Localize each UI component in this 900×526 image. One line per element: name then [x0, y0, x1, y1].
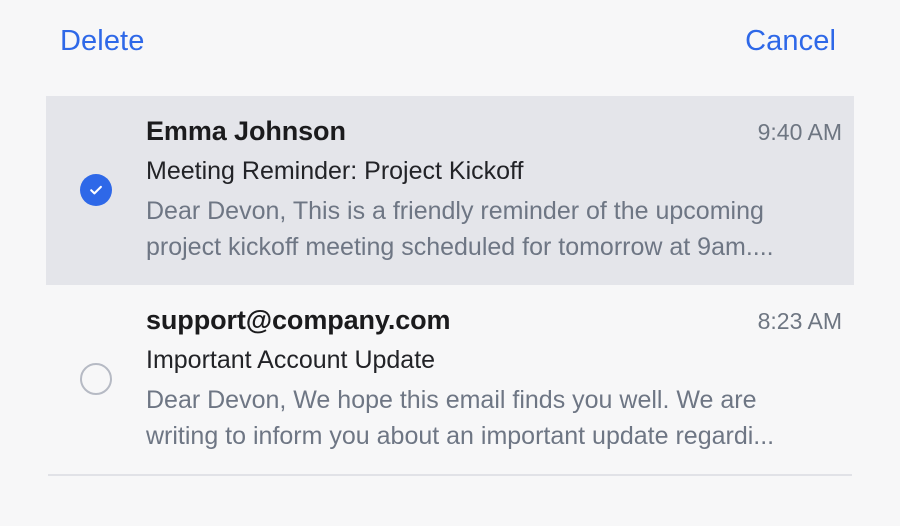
delete-button[interactable]: Delete [60, 27, 144, 56]
circle-outline-icon[interactable] [80, 363, 112, 395]
email-list-item-selected[interactable]: Emma Johnson 9:40 AM Meeting Reminder: P… [46, 96, 854, 285]
cancel-button[interactable]: Cancel [745, 27, 836, 56]
select-checkbox-cell[interactable] [46, 363, 146, 395]
select-checkbox-cell[interactable] [46, 174, 146, 206]
check-circle-filled-icon[interactable] [80, 174, 112, 206]
email-content: support@company.com 8:23 AM Important Ac… [146, 303, 846, 454]
email-sender: support@company.com [146, 303, 450, 338]
email-subject: Meeting Reminder: Project Kickoff [146, 155, 842, 189]
email-selection-screen: Delete Cancel Emma Johnson 9:40 AM Meeti… [0, 0, 900, 526]
email-preview: Dear Devon, This is a friendly reminder … [146, 194, 806, 265]
email-list-item[interactable]: support@company.com 8:23 AM Important Ac… [0, 285, 900, 474]
email-header-row: Emma Johnson 9:40 AM [146, 114, 842, 149]
email-sender: Emma Johnson [146, 114, 346, 149]
email-header-row: support@company.com 8:23 AM [146, 303, 842, 338]
email-content: Emma Johnson 9:40 AM Meeting Reminder: P… [146, 114, 846, 265]
email-list: Emma Johnson 9:40 AM Meeting Reminder: P… [0, 96, 900, 476]
email-timestamp: 9:40 AM [758, 118, 842, 148]
email-subject: Important Account Update [146, 344, 842, 378]
email-preview: Dear Devon, We hope this email finds you… [146, 383, 806, 454]
list-divider [48, 474, 852, 476]
email-timestamp: 8:23 AM [758, 307, 842, 337]
action-bar: Delete Cancel [0, 0, 900, 82]
